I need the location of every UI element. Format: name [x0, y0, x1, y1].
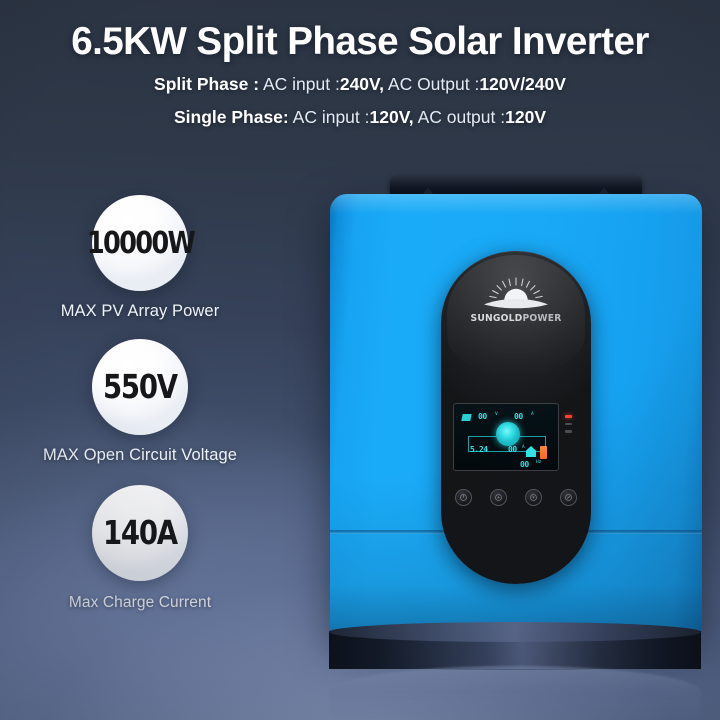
led-indicator-strip [565, 415, 575, 438]
lcd-solar-icon [461, 414, 471, 421]
lcd-readout-ac: 00 [514, 413, 523, 421]
split-phase-output-label: AC Output : [388, 74, 479, 94]
control-panel: SUNGOLDPOWER 00 V 00 A [441, 251, 591, 584]
fault-led [565, 415, 572, 418]
lcd-unit-ac: A [531, 413, 534, 418]
pedestal-top [329, 622, 701, 642]
spec-circle: 10000W [92, 195, 188, 291]
lcd-battery-icon [540, 446, 547, 459]
single-phase-output-label: AC output : [418, 107, 506, 127]
spec-badge-charge-current: 140A Max Charge Current [0, 485, 290, 611]
lcd-wire-left [468, 436, 469, 451]
split-phase-input-label: AC input : [263, 74, 340, 94]
spec-value: 10000W [86, 228, 193, 258]
status-led [565, 430, 572, 433]
charge-led [565, 423, 572, 426]
down-button[interactable] [525, 489, 542, 506]
lcd-readout-pv: 00 [478, 413, 487, 421]
lcd-unit-freq: Hz [536, 461, 541, 466]
spec-line-single-phase: Single Phase: AC input :120V, AC output … [0, 109, 720, 127]
lcd-display[interactable]: 00 V 00 A 5.24 00 A [453, 403, 559, 471]
lcd-unit-pv: V [495, 413, 498, 418]
brand-wordmark: SUNGOLDPOWER [447, 314, 585, 324]
single-phase-label: Single Phase: [174, 107, 289, 127]
split-phase-output-value: 120V/240V [479, 74, 566, 94]
page-title: 6.5KW Split Phase Solar Inverter [4, 0, 717, 61]
brand-name-second: POWER [522, 313, 561, 324]
promo-stage: 6.5KW Split Phase Solar Inverter Split P… [0, 0, 720, 720]
spec-circle: 140A [92, 485, 188, 581]
lcd-readout-freq: 00 [520, 461, 529, 469]
spec-line-split-phase: Split Phase : AC input :240V, AC Output … [0, 76, 720, 94]
split-phase-label: Split Phase : [154, 74, 259, 94]
sunrise-icon [478, 277, 554, 311]
spec-value: 140A [103, 517, 177, 549]
brand-logo: SUNGOLDPOWER [441, 277, 591, 324]
enter-button[interactable] [560, 489, 577, 506]
header: 6.5KW Split Phase Solar Inverter Split P… [0, 0, 720, 126]
spec-value: 550V [103, 371, 177, 403]
button-row [455, 489, 577, 506]
spec-badge-pv-array-power: 10000W MAX PV Array Power [0, 195, 290, 320]
brand-name-first: SUNGOLD [471, 313, 523, 324]
lcd-readout-load: 00 [508, 446, 517, 454]
spec-caption: MAX PV Array Power [0, 303, 290, 320]
single-phase-output-value: 120V [505, 107, 546, 127]
lcd-screen-content: 00 V 00 A 5.24 00 A [456, 406, 556, 468]
split-phase-input-value: 240V, [340, 74, 384, 94]
single-phase-input-value: 120V, [370, 107, 414, 127]
up-button[interactable] [490, 489, 507, 506]
spec-caption: Max Charge Current [0, 595, 290, 611]
inverter-body: SUNGOLDPOWER 00 V 00 A [330, 194, 702, 636]
power-button[interactable] [455, 489, 472, 506]
body-top-highlight [330, 194, 702, 214]
pedestal-reflection [329, 666, 701, 720]
inverter-product-image: SUNGOLDPOWER 00 V 00 A [330, 176, 702, 636]
spec-caption: MAX Open Circuit Voltage [0, 447, 290, 464]
lcd-sun-indicator [496, 422, 520, 446]
lcd-readout-batt: 5.24 [470, 446, 488, 454]
spec-circle: 550V [92, 339, 188, 435]
spec-badge-open-circuit-voltage: 550V MAX Open Circuit Voltage [0, 339, 290, 464]
lcd-house-icon [526, 446, 536, 457]
single-phase-input-label: AC input : [293, 107, 370, 127]
lcd-unit-load: A [522, 446, 525, 451]
